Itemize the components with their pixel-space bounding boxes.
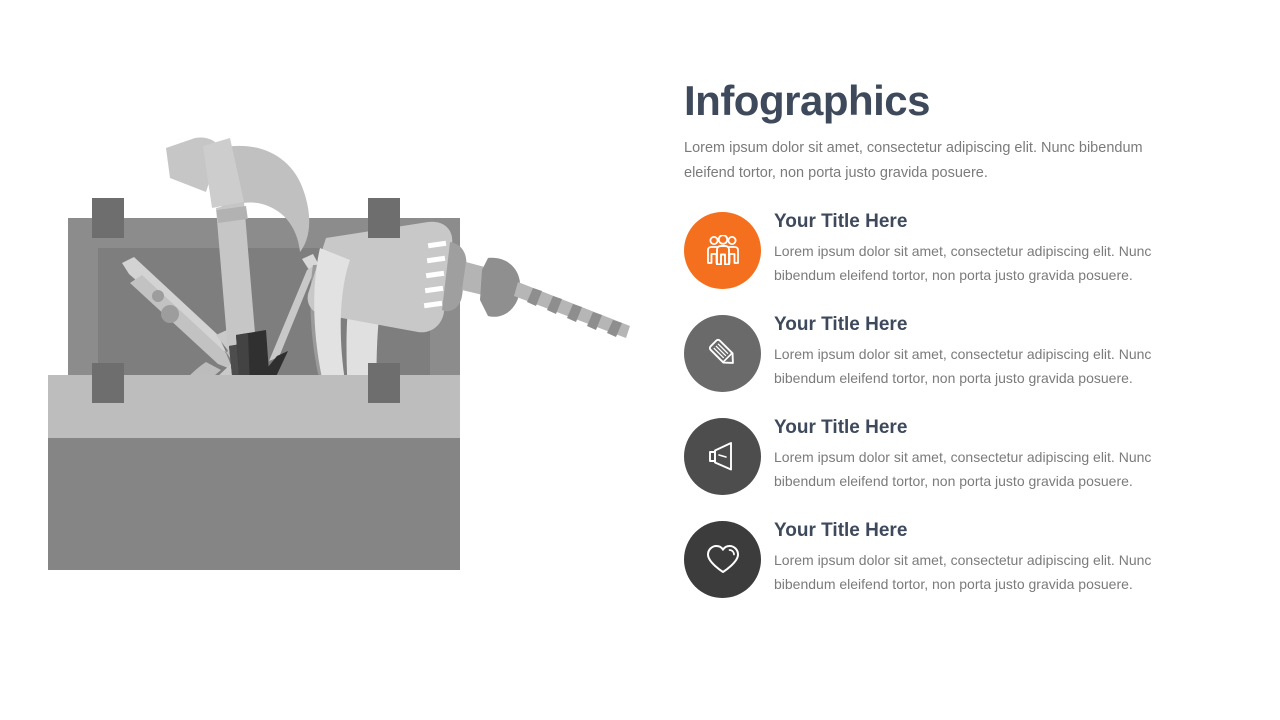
item-description: Lorem ipsum dolor sit amet, consectetur …	[774, 445, 1178, 494]
page-subtitle: Lorem ipsum dolor sit amet, consectetur …	[684, 136, 1176, 186]
item-description: Lorem ipsum dolor sit amet, consectetur …	[774, 342, 1178, 391]
list-item[interactable]: Your Title Here Lorem ipsum dolor sit am…	[684, 315, 1204, 418]
item-icon-circle-4[interactable]	[684, 521, 761, 598]
item-description: Lorem ipsum dolor sit amet, consectetur …	[774, 548, 1178, 597]
slide-canvas: Infographics Lorem ipsum dolor sit amet,…	[0, 0, 1280, 720]
item-title: Your Title Here	[774, 519, 1178, 544]
list-item[interactable]: Your Title Here Lorem ipsum dolor sit am…	[684, 212, 1204, 315]
item-description: Lorem ipsum dolor sit amet, consectetur …	[774, 239, 1178, 288]
toolbox-front-body	[48, 438, 460, 570]
item-text-block: Your Title Here Lorem ipsum dolor sit am…	[774, 416, 1178, 494]
toolbox-tab-bottom-left	[92, 363, 124, 403]
toolbox-front-band-cover	[48, 403, 460, 438]
pencil-icon	[706, 336, 740, 370]
heart-icon	[705, 543, 741, 575]
speaker-icon	[706, 440, 740, 472]
item-title: Your Title Here	[774, 416, 1178, 441]
list-item[interactable]: Your Title Here Lorem ipsum dolor sit am…	[684, 521, 1204, 624]
item-icon-circle-3[interactable]	[684, 418, 761, 495]
toolbox-tab-bottom-right	[368, 363, 400, 403]
list-item[interactable]: Your Title Here Lorem ipsum dolor sit am…	[684, 418, 1204, 521]
item-text-block: Your Title Here Lorem ipsum dolor sit am…	[774, 210, 1178, 288]
toolbox-tab-top-left	[92, 198, 124, 238]
item-icon-circle-1[interactable]	[684, 212, 761, 289]
content-panel: Infographics Lorem ipsum dolor sit amet,…	[684, 80, 1204, 624]
toolbox-illustration	[30, 130, 660, 590]
toolbox-tab-top-right	[368, 198, 400, 238]
group-people-icon	[706, 235, 740, 265]
item-title: Your Title Here	[774, 313, 1178, 338]
item-text-block: Your Title Here Lorem ipsum dolor sit am…	[774, 519, 1178, 597]
infographic-items-list: Your Title Here Lorem ipsum dolor sit am…	[684, 212, 1204, 624]
item-icon-circle-2[interactable]	[684, 315, 761, 392]
item-title: Your Title Here	[774, 210, 1178, 235]
item-text-block: Your Title Here Lorem ipsum dolor sit am…	[774, 313, 1178, 391]
page-title: Infographics	[684, 80, 1204, 122]
drill-bit	[514, 282, 630, 338]
